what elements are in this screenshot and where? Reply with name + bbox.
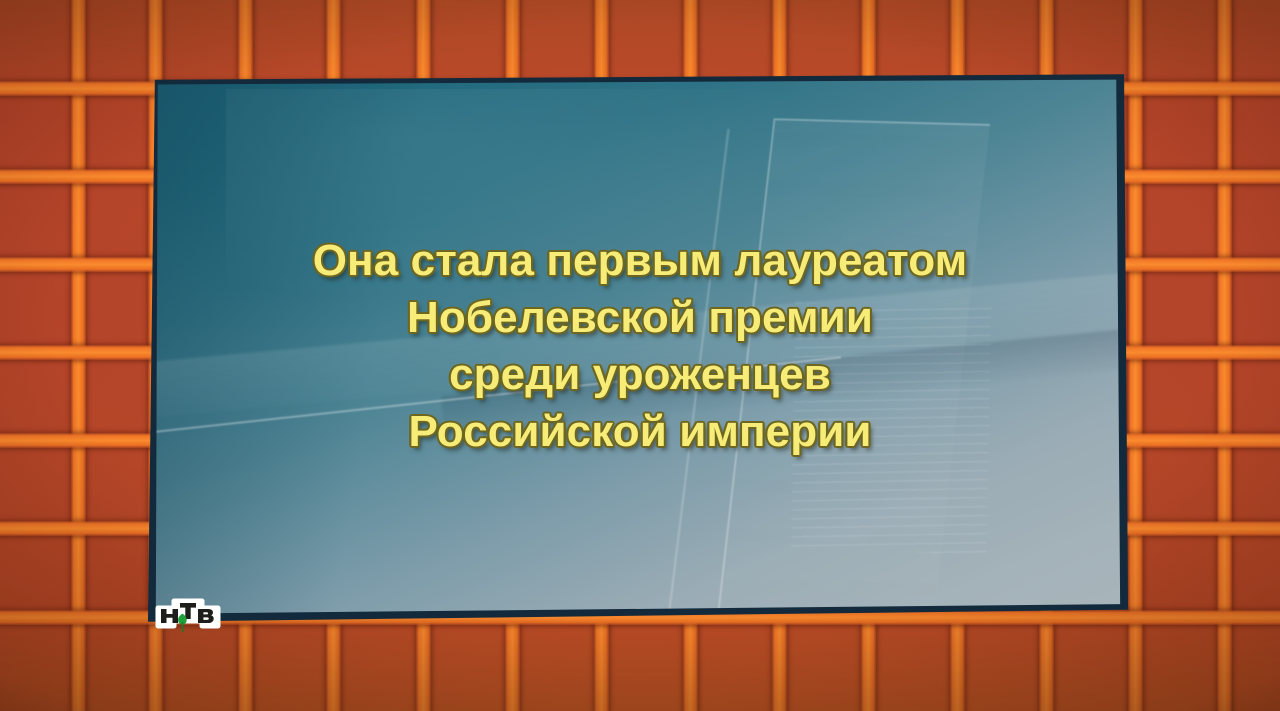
screen-reflection-slats <box>791 303 991 554</box>
screen-reflection-line <box>664 128 729 617</box>
screen-reflection-band <box>441 320 1126 436</box>
screen-reflection-line <box>148 356 840 437</box>
ntv-logo <box>155 597 221 634</box>
broadcast-frame: Она стала первым лауреатом Нобелевской п… <box>0 0 1280 711</box>
projection-screen <box>142 72 1132 624</box>
screen-reflection-band <box>148 263 1126 423</box>
screen-reflection-shade <box>148 78 441 617</box>
screen-reflection-building <box>717 118 990 617</box>
screen-reflection-glow <box>226 89 813 305</box>
screen-surface <box>148 78 1126 617</box>
